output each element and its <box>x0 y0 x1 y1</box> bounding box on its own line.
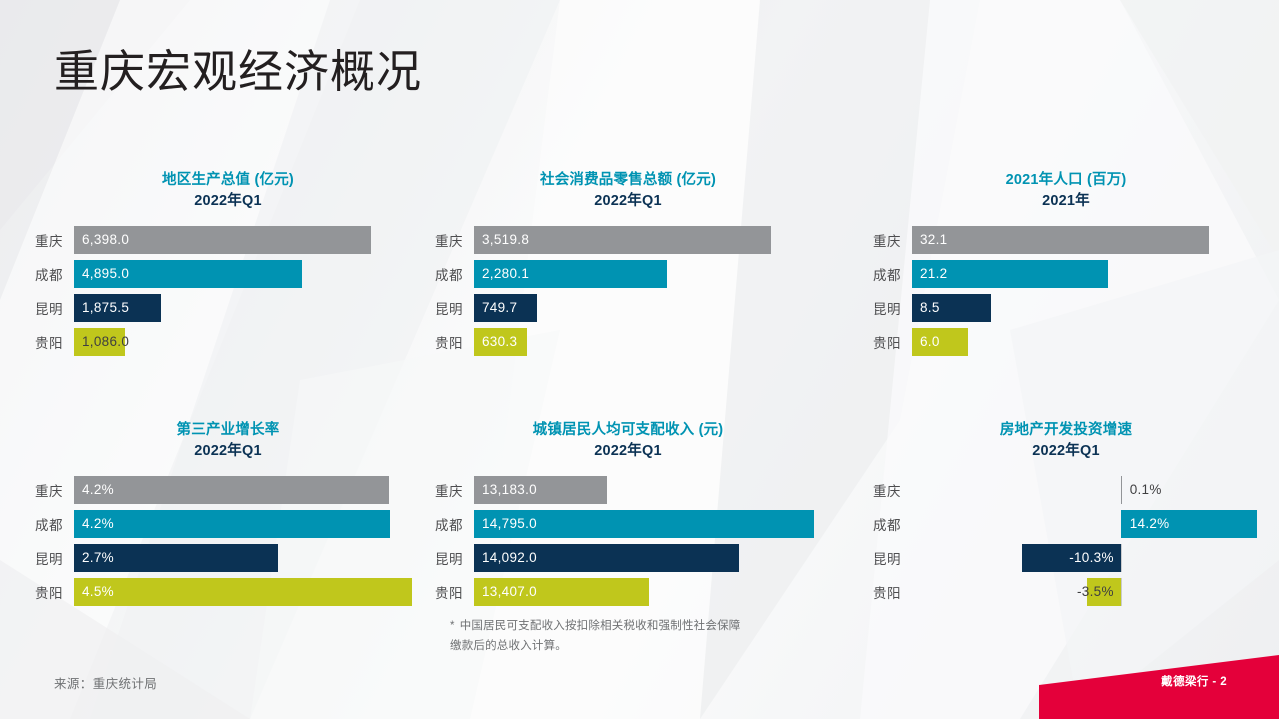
category-label: 成都 <box>866 264 912 284</box>
bar-value-label: 0.1% <box>1130 476 1162 504</box>
bar-value-label: 13,407.0 <box>482 578 537 606</box>
bar-track: 3,519.8 <box>474 226 828 254</box>
bar-row: 成都 4.2% <box>28 507 428 541</box>
bar-value-label: 4.2% <box>82 476 114 504</box>
bar-segment[interactable] <box>74 510 390 538</box>
category-label: 成都 <box>866 514 912 534</box>
bar-track: 2,280.1 <box>474 260 828 288</box>
bar-row: 昆明 2.7% <box>28 541 428 575</box>
category-label: 重庆 <box>866 230 912 250</box>
bar-track: 1,086.0 <box>74 328 428 356</box>
chart-gdp: 地区生产总值 (亿元) 2022年Q1 重庆 6,398.0 成都 <box>28 170 428 359</box>
category-label: 贵阳 <box>866 332 912 352</box>
category-label: 成都 <box>428 264 474 284</box>
chart-subtitle: 2022年Q1 <box>28 191 428 212</box>
chart-plot-area: 重庆 13,183.0 成都 14,795.0 <box>428 473 828 609</box>
bar-row: 昆明 -10.3% <box>866 541 1266 575</box>
chart-title: 地区生产总值 (亿元) <box>28 170 428 191</box>
bar-row: 贵阳 4.5% <box>28 575 428 609</box>
bar-value-label: 14,092.0 <box>482 544 537 572</box>
category-label: 昆明 <box>866 548 912 568</box>
category-label: 贵阳 <box>866 582 912 602</box>
bar-row: 昆明 14,092.0 <box>428 541 828 575</box>
chart-subtitle: 2021年 <box>866 191 1266 212</box>
bar-value-label: 630.3 <box>482 328 517 356</box>
category-label: 贵阳 <box>428 582 474 602</box>
bar-row: 昆明 8.5 <box>866 291 1266 325</box>
bar-track: 8.5 <box>912 294 1266 322</box>
bar-segment[interactable] <box>1121 476 1123 504</box>
bar-track: 1,875.5 <box>74 294 428 322</box>
category-label: 成都 <box>28 514 74 534</box>
bar-row: 成都 14.2% <box>866 507 1266 541</box>
bar-row: 重庆 6,398.0 <box>28 223 428 257</box>
bar-track: 2.7% <box>74 544 428 572</box>
chart-subtitle: 2022年Q1 <box>428 191 828 212</box>
bar-track: 14,795.0 <box>474 510 828 538</box>
category-label: 重庆 <box>866 480 912 500</box>
chart-plot-area: 重庆 6,398.0 成都 4,895.0 <box>28 223 428 359</box>
chart-realestate-investment-growth: 房地产开发投资增速 2022年Q1 重庆 0.1% 成都 <box>866 420 1266 609</box>
bar-track: 4.2% <box>74 510 428 538</box>
bar-track: 13,407.0 <box>474 578 828 606</box>
bar-row: 昆明 749.7 <box>428 291 828 325</box>
bar-row: 成都 2,280.1 <box>428 257 828 291</box>
bar-value-label: 3,519.8 <box>482 226 529 254</box>
bar-track: 6,398.0 <box>74 226 428 254</box>
bar-track: 0.1% <box>912 476 1266 504</box>
bar-row: 昆明 1,875.5 <box>28 291 428 325</box>
zero-axis-line <box>1121 544 1122 572</box>
bar-track: 6.0 <box>912 328 1266 356</box>
page-title: 重庆宏观经济概况 <box>54 44 422 100</box>
bar-value-label: 6.0 <box>920 328 940 356</box>
bar-track: 32.1 <box>912 226 1266 254</box>
chart-plot-area: 重庆 32.1 成都 21.2 昆明 <box>866 223 1266 359</box>
bar-value-label: 14.2% <box>1130 510 1170 538</box>
bar-track: -3.5% <box>912 578 1266 606</box>
bar-row: 重庆 32.1 <box>866 223 1266 257</box>
chart-population: 2021年人口 (百万) 2021年 重庆 32.1 成都 <box>866 170 1266 359</box>
bar-track: 630.3 <box>474 328 828 356</box>
bar-value-label: 13,183.0 <box>482 476 537 504</box>
bar-track: 749.7 <box>474 294 828 322</box>
bar-value-label: 14,795.0 <box>482 510 537 538</box>
chart-row-bottom: 第三产业增长率 2022年Q1 重庆 4.2% 成都 4. <box>0 420 1279 609</box>
bar-track: 4.5% <box>74 578 428 606</box>
chart-subtitle: 2022年Q1 <box>428 441 828 462</box>
bar-value-label: 4.5% <box>82 578 114 606</box>
bar-row: 贵阳 630.3 <box>428 325 828 359</box>
footnote-marker: * <box>450 620 455 632</box>
category-label: 重庆 <box>28 230 74 250</box>
bar-value-label: 1,086.0 <box>82 328 129 356</box>
bar-value-label: 8.5 <box>920 294 940 322</box>
chart-subtitle: 2022年Q1 <box>866 441 1266 462</box>
source-label: 来源：重庆统计局 <box>54 673 157 692</box>
chart-disposable-income: 城镇居民人均可支配收入 (元) 2022年Q1 重庆 13,183.0 成都 <box>428 420 828 609</box>
chart-plot-area: 重庆 3,519.8 成都 2,280.1 <box>428 223 828 359</box>
bar-value-label: 749.7 <box>482 294 517 322</box>
bar-value-label: -3.5% <box>1018 578 1114 606</box>
bar-value-label: 4,895.0 <box>82 260 129 288</box>
bar-row: 重庆 13,183.0 <box>428 473 828 507</box>
category-label: 昆明 <box>428 298 474 318</box>
bar-segment[interactable] <box>74 578 412 606</box>
bar-track: 4,895.0 <box>74 260 428 288</box>
bar-row: 贵阳 6.0 <box>866 325 1266 359</box>
chart-plot-area: 重庆 0.1% 成都 14.2% <box>866 473 1266 609</box>
category-label: 重庆 <box>28 480 74 500</box>
bar-track: 14.2% <box>912 510 1266 538</box>
category-label: 重庆 <box>428 480 474 500</box>
chart-title: 社会消费品零售总额 (亿元) <box>428 170 828 191</box>
footnote: *中国居民可支配收入按扣除相关税收和强制性社会保障缴款后的总收入计算。 <box>450 617 750 657</box>
chart-retail-sales: 社会消费品零售总额 (亿元) 2022年Q1 重庆 3,519.8 成都 <box>428 170 828 359</box>
bar-track: 14,092.0 <box>474 544 828 572</box>
bar-value-label: 2,280.1 <box>482 260 529 288</box>
bar-row: 贵阳 1,086.0 <box>28 325 428 359</box>
category-label: 昆明 <box>28 548 74 568</box>
bar-value-label: -10.3% <box>1022 544 1114 572</box>
category-label: 贵阳 <box>428 332 474 352</box>
bar-segment[interactable] <box>74 476 389 504</box>
chart-title: 房地产开发投资增速 <box>866 420 1266 441</box>
bar-value-label: 2.7% <box>82 544 114 572</box>
chart-subtitle: 2022年Q1 <box>28 441 428 462</box>
category-label: 重庆 <box>428 230 474 250</box>
chart-title: 2021年人口 (百万) <box>866 170 1266 191</box>
chart-title: 第三产业增长率 <box>28 420 428 441</box>
slide-canvas: 重庆宏观经济概况 地区生产总值 (亿元) 2022年Q1 重庆 6,398.0 <box>0 0 1279 719</box>
category-label: 昆明 <box>866 298 912 318</box>
bar-value-label: 6,398.0 <box>82 226 129 254</box>
bar-row: 重庆 4.2% <box>28 473 428 507</box>
charts-grid: 地区生产总值 (亿元) 2022年Q1 重庆 6,398.0 成都 <box>0 170 1279 609</box>
bar-row: 贵阳 -3.5% <box>866 575 1266 609</box>
bar-value-label: 4.2% <box>82 510 114 538</box>
category-label: 成都 <box>428 514 474 534</box>
bar-track: 13,183.0 <box>474 476 828 504</box>
bar-track: 4.2% <box>74 476 428 504</box>
bar-row: 成都 21.2 <box>866 257 1266 291</box>
category-label: 昆明 <box>428 548 474 568</box>
bar-value-label: 32.1 <box>920 226 947 254</box>
bar-segment[interactable] <box>912 226 1209 254</box>
chart-plot-area: 重庆 4.2% 成都 4.2% 昆明 <box>28 473 428 609</box>
bar-row: 贵阳 13,407.0 <box>428 575 828 609</box>
bar-row: 重庆 3,519.8 <box>428 223 828 257</box>
brand-red-corner-decoration <box>1039 655 1279 719</box>
chart-tertiary-growth: 第三产业增长率 2022年Q1 重庆 4.2% 成都 4. <box>28 420 428 609</box>
brand-footer-label: 戴德梁行 - 2 <box>1161 673 1227 689</box>
footnote-text: 中国居民可支配收入按扣除相关税收和强制性社会保障缴款后的总收入计算。 <box>450 620 741 652</box>
zero-axis-line <box>1121 578 1122 606</box>
category-label: 成都 <box>28 264 74 284</box>
bar-track: 21.2 <box>912 260 1266 288</box>
chart-row-top: 地区生产总值 (亿元) 2022年Q1 重庆 6,398.0 成都 <box>0 170 1279 359</box>
bar-row: 成都 14,795.0 <box>428 507 828 541</box>
category-label: 贵阳 <box>28 332 74 352</box>
bar-row: 重庆 0.1% <box>866 473 1266 507</box>
category-label: 昆明 <box>28 298 74 318</box>
bar-row: 成都 4,895.0 <box>28 257 428 291</box>
bar-track: -10.3% <box>912 544 1266 572</box>
chart-title: 城镇居民人均可支配收入 (元) <box>428 420 828 441</box>
bar-value-label: 1,875.5 <box>82 294 129 322</box>
bar-value-label: 21.2 <box>920 260 947 288</box>
category-label: 贵阳 <box>28 582 74 602</box>
